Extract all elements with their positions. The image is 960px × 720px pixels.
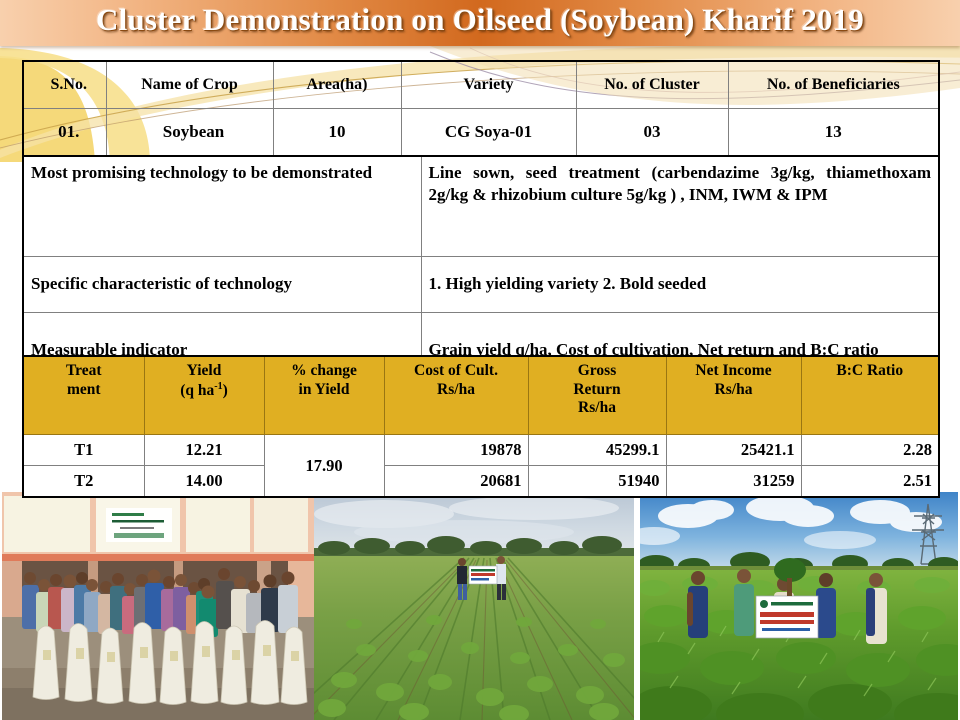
cell-clusters: 03: [576, 109, 728, 157]
slide-root: Cluster Demonstration on Oilseed (Soybea…: [0, 0, 960, 720]
cell-t1-cost: 19878: [384, 435, 528, 466]
header-yield-line2: (q ha: [180, 382, 214, 399]
header-cost-of-cultivation: Cost of Cult. Rs/ha: [384, 356, 528, 435]
cell-t1-gross-return: 45299.1: [528, 435, 666, 466]
header-variety: Variety: [401, 61, 576, 109]
cell-t2-yield: 14.00: [144, 466, 264, 498]
cell-t2-net-income: 31259: [666, 466, 801, 498]
photo-3-graphic: [640, 492, 958, 720]
table-row: 01. Soybean 10 CG Soya-01 03 13: [23, 109, 939, 157]
header-sno: S.No.: [23, 61, 106, 109]
photo-1-graphic: [2, 492, 314, 720]
cell-t2-cost: 20681: [384, 466, 528, 498]
header-change-line2: in Yield: [299, 381, 350, 398]
cell-pct-change-in-yield: 17.90: [264, 435, 384, 498]
photo-strip: [0, 492, 960, 720]
header-no-of-beneficiaries: No. of Beneficiaries: [728, 61, 939, 109]
cell-t1-yield: 12.21: [144, 435, 264, 466]
header-name-of-crop: Name of Crop: [106, 61, 273, 109]
photo-farmers-with-seed-sacks: [2, 492, 314, 720]
table-row: Most promising technology to be demonstr…: [23, 156, 939, 257]
cell-beneficiaries: 13: [728, 109, 939, 157]
cell-t2-treatment: T2: [23, 466, 144, 498]
header-no-of-cluster: No. of Cluster: [576, 61, 728, 109]
header-treatment: Treat ment: [23, 356, 144, 435]
cell-t1-bc-ratio: 2.28: [801, 435, 939, 466]
header-net-income: Net Income Rs/ha: [666, 356, 801, 435]
photo-soybean-field-with-signboard: [640, 492, 958, 720]
table-header-row: S.No. Name of Crop Area(ha) Variety No. …: [23, 61, 939, 109]
cell-variety: CG Soya-01: [401, 109, 576, 157]
header-gross-line2: Return: [573, 381, 620, 398]
header-yield-exponent: -1: [214, 381, 222, 392]
cell-t2-bc-ratio: 2.51: [801, 466, 939, 498]
header-yield-line2b: ): [223, 382, 228, 399]
cell-crop: Soybean: [106, 109, 273, 157]
value-most-promising-technology: Line sown, seed treatment (carbendazime …: [421, 156, 939, 257]
header-gross-line3: Rs/ha: [578, 399, 616, 416]
table-header-row: Treat ment Yield (q ha-1) % change in Yi…: [23, 356, 939, 435]
cell-t1-treatment: T1: [23, 435, 144, 466]
header-net-line2: Rs/ha: [715, 381, 753, 398]
cell-t2-gross-return: 51940: [528, 466, 666, 498]
title-banner: Cluster Demonstration on Oilseed (Soybea…: [0, 0, 960, 46]
table-row: T1 12.21 17.90 19878 45299.1 25421.1 2.2…: [23, 435, 939, 466]
header-yield-line1: Yield: [187, 362, 222, 379]
cell-sno: 01.: [23, 109, 106, 157]
photo-2-graphic: [314, 492, 634, 720]
page-title: Cluster Demonstration on Oilseed (Soybea…: [0, 2, 960, 38]
value-specific-characteristic: 1. High yielding variety 2. Bold seeded: [421, 257, 939, 313]
cell-area: 10: [273, 109, 401, 157]
label-specific-characteristic: Specific characteristic of technology: [23, 257, 421, 313]
header-gross-return: Gross Return Rs/ha: [528, 356, 666, 435]
header-bc-ratio: B:C Ratio: [801, 356, 939, 435]
economics-table: Treat ment Yield (q ha-1) % change in Yi…: [22, 355, 940, 498]
header-pct-change-in-yield: % change in Yield: [264, 356, 384, 435]
header-area: Area(ha): [273, 61, 401, 109]
label-most-promising-technology: Most promising technology to be demonstr…: [23, 156, 421, 257]
header-treatment-line2: ment: [67, 381, 101, 398]
header-change-line1: % change: [291, 362, 357, 379]
header-gross-line1: Gross: [578, 362, 616, 379]
cell-t1-net-income: 25421.1: [666, 435, 801, 466]
header-treatment-line1: Treat: [66, 362, 102, 379]
header-net-line1: Net Income: [695, 362, 771, 379]
table-row: T2 14.00 20681 51940 31259 2.51: [23, 466, 939, 498]
header-yield: Yield (q ha-1): [144, 356, 264, 435]
header-cost-line2: Rs/ha: [437, 381, 475, 398]
table-row: Specific characteristic of technology 1.…: [23, 257, 939, 313]
header-cost-line1: Cost of Cult.: [414, 362, 498, 379]
crop-summary-table: S.No. Name of Crop Area(ha) Variety No. …: [22, 60, 940, 157]
photo-soybean-field-early-stage: [314, 492, 634, 720]
